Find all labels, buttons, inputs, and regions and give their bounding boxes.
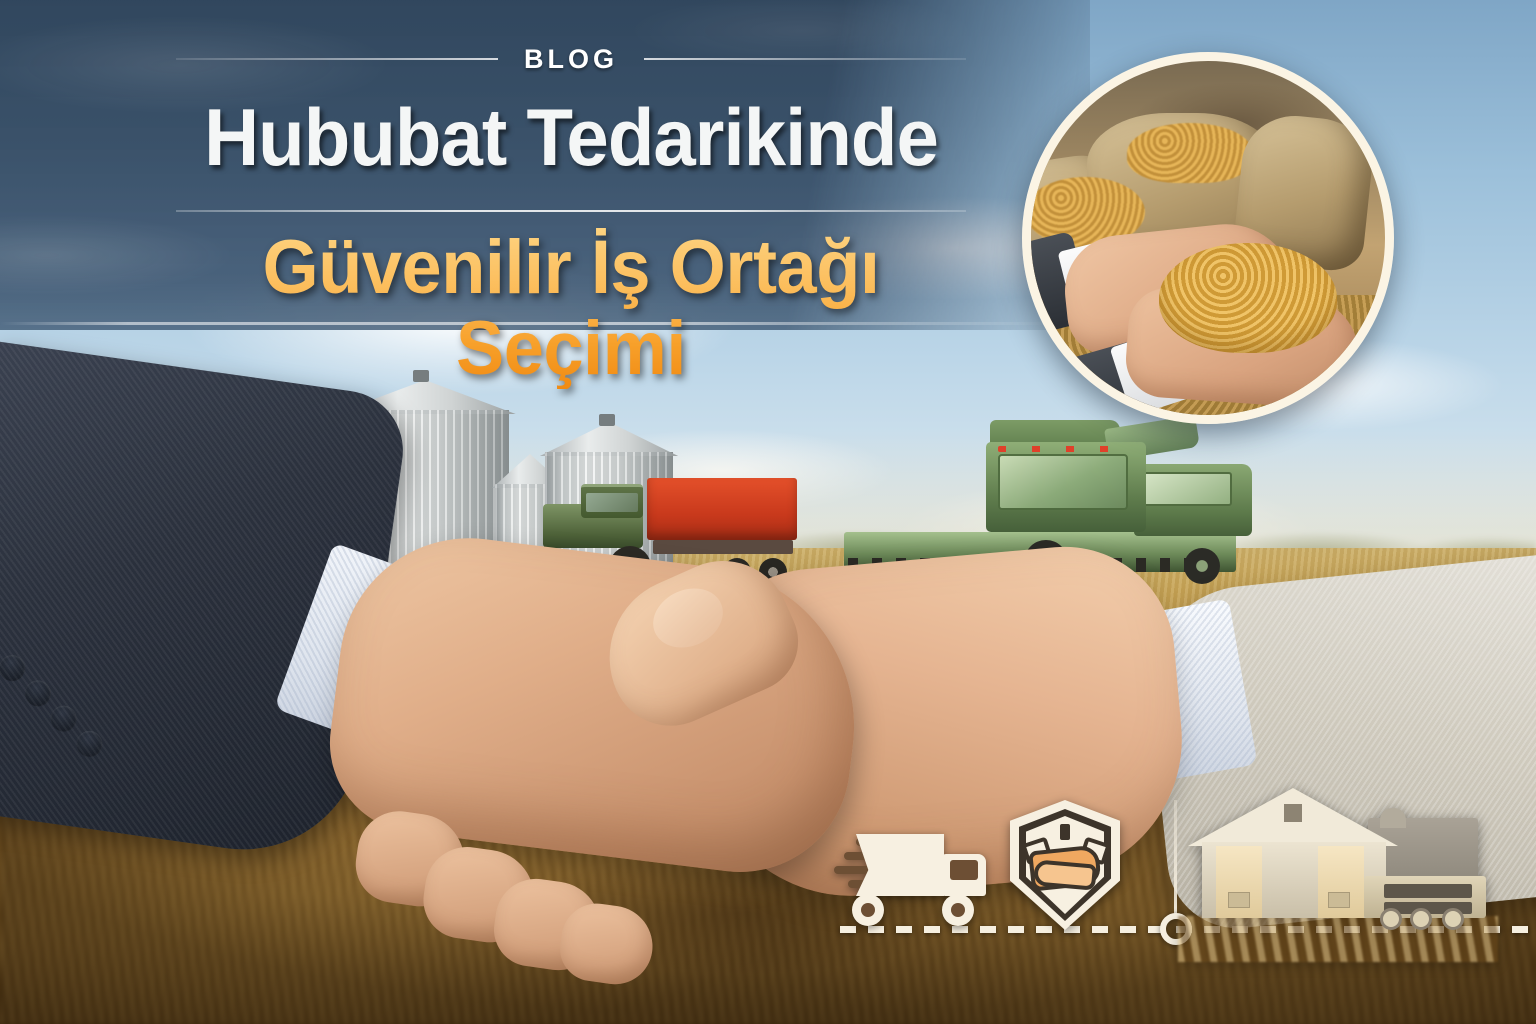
truck-window [950, 860, 978, 880]
warehouse-truck-wheel [1410, 908, 1432, 930]
eyebrow-row: BLOG [176, 42, 966, 76]
warehouse-silo [1380, 808, 1406, 828]
page-title-line1: Hububat Tedarikinde [200, 96, 943, 182]
page-title-line2: Güvenilir İş Ortağı Seçimi [196, 228, 947, 389]
warehouse-truck-wheel [1380, 908, 1402, 930]
eyebrow-label: BLOG [524, 44, 618, 75]
wheat-grain-in-hands [1159, 243, 1337, 353]
warehouse-crate [1328, 892, 1350, 908]
truck-wheel [852, 894, 884, 926]
warehouse-truck-wheel [1442, 908, 1464, 930]
warehouse-window [1284, 804, 1302, 822]
warehouse-truck-icon [1188, 788, 1488, 938]
suit-buttons [0, 651, 169, 791]
grain-pile [1127, 123, 1253, 183]
eyebrow-rule-right [644, 58, 966, 60]
title-divider [176, 210, 966, 212]
truck-cargo-box [856, 834, 944, 896]
timeline-tick [1174, 800, 1177, 918]
warehouse-truck-window [1384, 884, 1472, 898]
supply-chain-icon-strip [820, 780, 1536, 980]
circular-inset-image [1022, 52, 1394, 424]
shield-hand-lower [1033, 859, 1097, 890]
delivery-truck-icon [838, 818, 988, 928]
truck-wheel [942, 894, 974, 926]
shield-handshake-icon [1010, 800, 1120, 930]
eyebrow-rule-left [176, 58, 498, 60]
warehouse-crate [1228, 892, 1250, 908]
shield-spark [1060, 824, 1070, 840]
blog-hero-banner: BLOG Hububat Tedarikinde Güvenilir İş Or… [0, 0, 1536, 1024]
